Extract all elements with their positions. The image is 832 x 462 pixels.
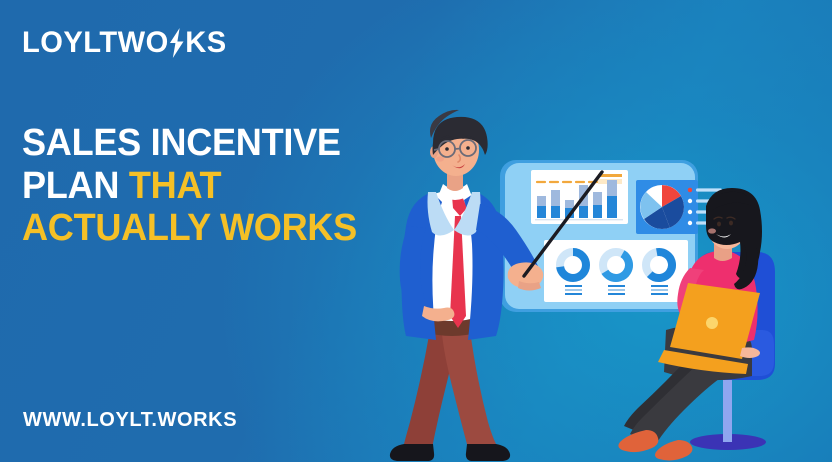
donut-chart-card (544, 240, 688, 302)
logo-text-before: LOYLTWO (22, 28, 169, 58)
headline-line-2-white: PLAN (22, 165, 129, 207)
headline-line-1: SALES INCENTIVE (22, 122, 357, 165)
donut-3-caption (651, 285, 668, 295)
bar-chart-card (531, 170, 628, 224)
headline-line-3-yellow: ACTUALLY WORKS (22, 207, 357, 249)
website-url[interactable]: WWW.LOYLT.WORKS (23, 409, 237, 432)
page-title: SALES INCENTIVE PLAN THAT ACTUALLY WORKS (22, 122, 357, 250)
headline-line-1-text: SALES INCENTIVE (22, 122, 341, 164)
headline-line-2-yellow: THAT (129, 165, 221, 207)
logo-text-after: KS (185, 28, 226, 58)
donut-1-caption (565, 285, 582, 295)
headline-line-3: ACTUALLY WORKS (22, 207, 357, 250)
headline-line-2: PLAN THAT (22, 165, 357, 208)
lightning-bolt-icon (169, 28, 185, 58)
brand-logo[interactable]: LOYLTWO KS (22, 28, 227, 58)
marketing-banner: LOYLTWO KS SALES INCENTIVE PLAN THAT ACT… (0, 0, 832, 462)
donut-2-caption (608, 285, 625, 295)
